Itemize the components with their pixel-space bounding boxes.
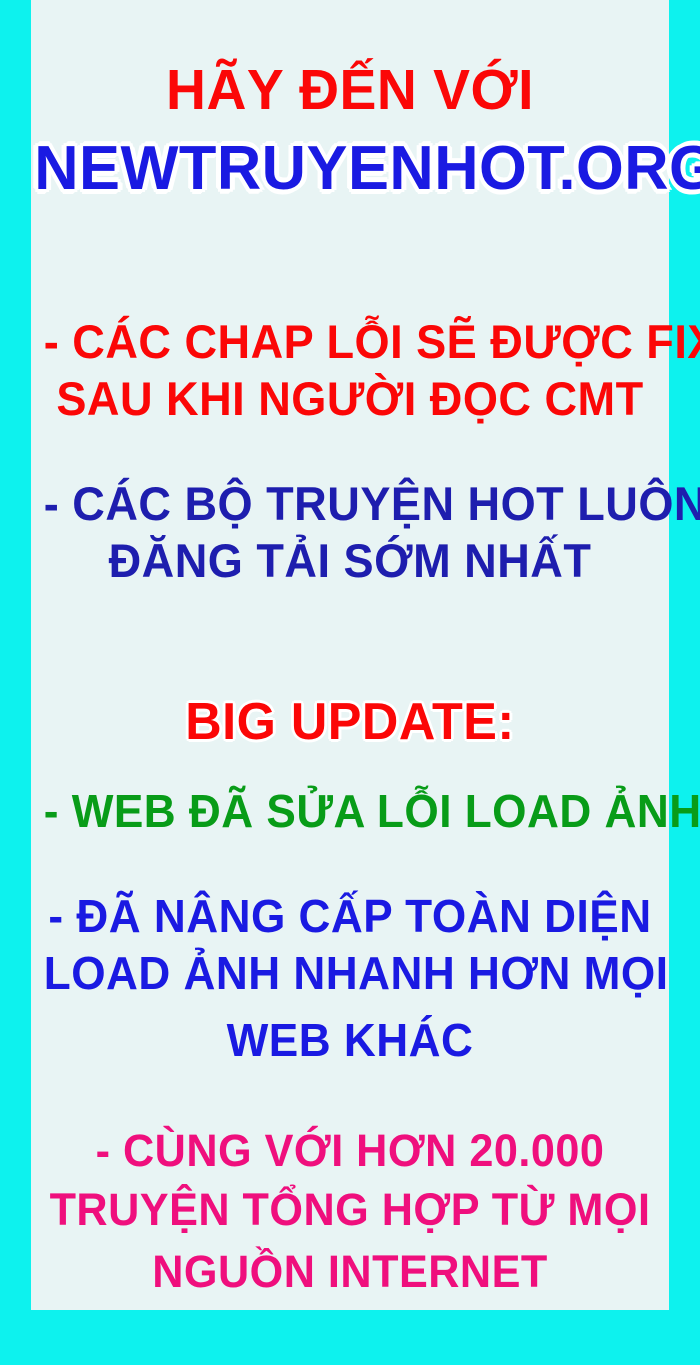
- update-item-upgrade-line-2: LOAD ẢNH NHANH HƠN MỌI: [44, 950, 656, 996]
- notice-fix-line-1: - CÁC CHAP LỖI SẼ ĐƯỢC FIX: [44, 318, 656, 365]
- frame-band-right: [669, 0, 700, 1365]
- update-item-upgrade-line-1: - ĐÃ NÂNG CẤP TOÀN DIỆN: [44, 893, 656, 939]
- site-url-text[interactable]: NEWTRUYENHOT.ORG: [34, 138, 666, 200]
- frame-band-bottom: [0, 1310, 700, 1365]
- tagline-text: HÃY ĐẾN VỚI: [41, 62, 660, 119]
- frame-band-left: [0, 0, 31, 1365]
- notice-hot-line-2: ĐĂNG TẢI SỚM NHẤT: [44, 537, 656, 584]
- notice-hot-line-1: - CÁC BỘ TRUYỆN HOT LUÔN: [44, 480, 656, 527]
- update-item-catalog-line-2: TRUYỆN TỔNG HỢP TỪ MỌI: [44, 1187, 656, 1232]
- notice-fix-line-2: SAU KHI NGƯỜI ĐỌC CMT: [44, 375, 656, 422]
- update-item-image-fix: - WEB ĐÃ SỬA LỖI LOAD ẢNH: [44, 788, 656, 834]
- poster-content: HÃY ĐẾN VỚI NEWTRUYENHOT.ORG - CÁC CHAP …: [31, 0, 669, 1310]
- big-update-heading: BIG UPDATE:: [41, 696, 660, 748]
- promo-poster: HÃY ĐẾN VỚI NEWTRUYENHOT.ORG - CÁC CHAP …: [0, 0, 700, 1368]
- update-item-catalog-line-3: NGUỒN INTERNET: [44, 1249, 656, 1294]
- update-item-catalog-line-1: - CÙNG VỚI HƠN 20.000: [44, 1128, 656, 1173]
- update-item-upgrade-line-3: WEB KHÁC: [44, 1017, 656, 1063]
